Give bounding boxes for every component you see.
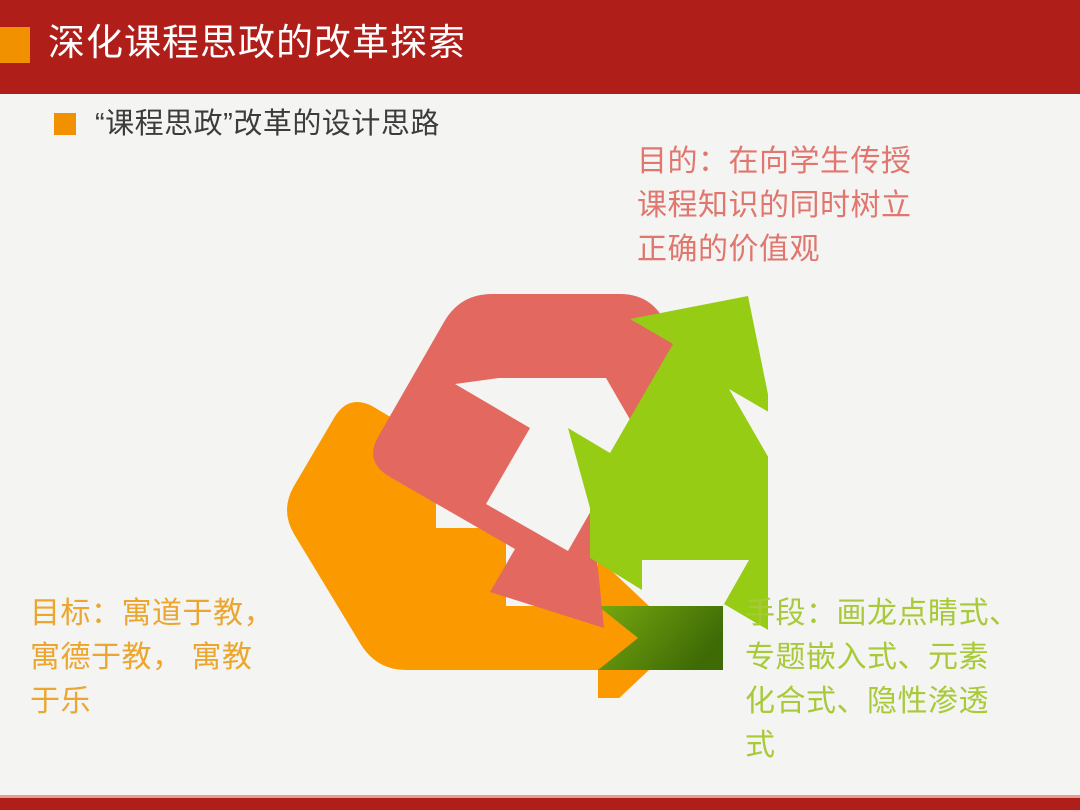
header-bar: 深化课程思政的改革探索 xyxy=(0,0,1080,94)
orange-square-accent-icon xyxy=(0,27,30,63)
subtitle-text: “课程思政”改革的设计思路 xyxy=(95,106,440,142)
slide-canvas: 深化课程思政的改革探索 “课程思政”改革的设计思路 xyxy=(0,0,1080,810)
label-means: 手段：画龙点睛式、 专题嵌入式、元素 化合式、隐性渗透 式 xyxy=(745,592,1075,768)
footer-bar xyxy=(0,798,1080,810)
subtitle-row: “课程思政”改革的设计思路 xyxy=(54,106,440,142)
label-goal: 目标：寓道于教， 寓德于教， 寓教 于乐 xyxy=(30,592,360,724)
label-purpose: 目的：在向学生传授 课程知识的同时树立 正确的价值观 xyxy=(637,140,1007,272)
page-title: 深化课程思政的改革探索 xyxy=(48,17,466,69)
orange-square-bullet-icon xyxy=(54,113,76,135)
